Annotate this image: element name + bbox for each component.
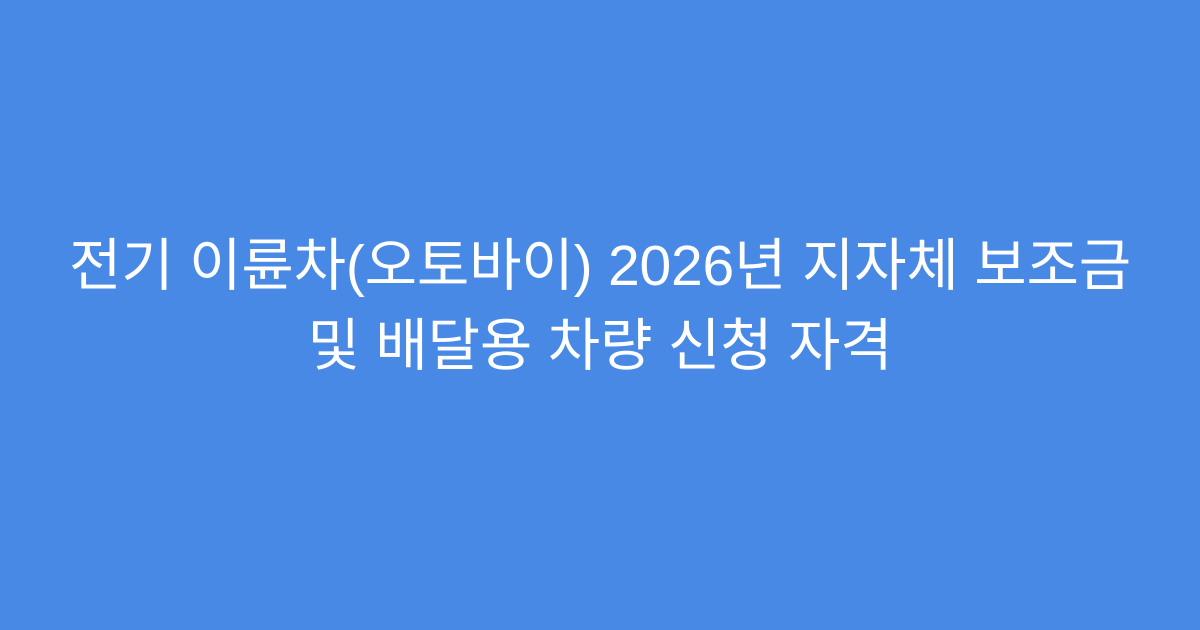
title-block: 전기 이륜차(오토바이) 2026년 지자체 보조금 및 배달용 차량 신청 자…: [54, 235, 1146, 395]
share-preview-card: 전기 이륜차(오토바이) 2026년 지자체 보조금 및 배달용 차량 신청 자…: [0, 0, 1200, 630]
page-title: 전기 이륜차(오토바이) 2026년 지자체 보조금 및 배달용 차량 신청 자…: [54, 226, 1146, 386]
